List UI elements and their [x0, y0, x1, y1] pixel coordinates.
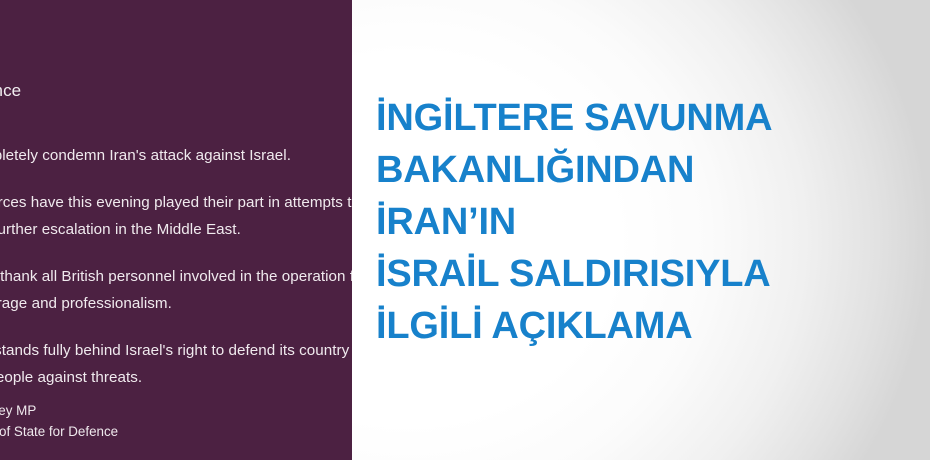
statement-paragraph: We completely condemn Iran's attack agai…: [0, 142, 352, 169]
statement-paragraph: The UK stands fully behind Israel's righ…: [0, 337, 352, 391]
statement-signature: John Healey MP Secretary of State for De…: [0, 400, 118, 442]
logo-line-2: of Defence: [0, 79, 21, 102]
logo-line-1: Ministry: [0, 56, 21, 79]
signature-role: Secretary of State for Defence: [0, 421, 118, 442]
statement-paragraph: I want to thank all British personnel in…: [0, 263, 352, 317]
signature-name: John Healey MP: [0, 400, 118, 421]
headline-line-5: İLGİLİ AÇIKLAMA: [376, 300, 916, 352]
headline-line-1: İNGİLTERE SAVUNMA: [376, 92, 916, 144]
statement-image-content: Ministry of Defence ” We completely cond…: [0, 0, 352, 460]
news-card: Ministry of Defence ” We completely cond…: [0, 0, 930, 460]
headline-line-2: BAKANLIĞINDAN: [376, 144, 916, 196]
statement-image-panel: Ministry of Defence ” We completely cond…: [0, 0, 352, 460]
headline: İNGİLTERE SAVUNMA BAKANLIĞINDAN İRAN’IN …: [376, 92, 916, 352]
ministry-of-defence-logo: Ministry of Defence: [0, 56, 21, 102]
statement-paragraph: British forces have this evening played …: [0, 189, 352, 243]
headline-line-3: İRAN’IN: [376, 196, 916, 248]
statement-body: We completely condemn Iran's attack agai…: [0, 142, 352, 391]
headline-line-4: İSRAİL SALDIRISIYLA: [376, 248, 916, 300]
